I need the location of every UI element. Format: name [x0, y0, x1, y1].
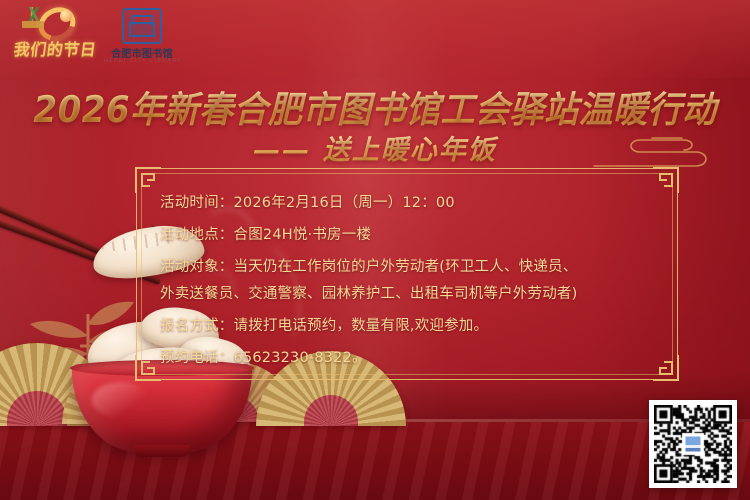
info-line-audience-1: 活动对象：当天仍在工作岗位的户外劳动者(环卫工人、快递员、: [160, 254, 660, 281]
sun-dot-icon: [60, 10, 72, 22]
qr-matrix: [654, 405, 732, 483]
info-text-block: 活动时间：2026年2月16日（周一）12：00 活动地点：合图24H悦·书房一…: [160, 190, 660, 372]
info-line-audience-2: 外卖送餐员、交通警察、园林养护工、出租车司机等户外劳动者): [160, 281, 660, 308]
hefei-city-library-logo: 合肥市图书馆 HEFEI CITY LIBRARY: [104, 8, 180, 68]
logo-underline: [22, 21, 44, 28]
sprout-icon: [17, 7, 51, 21]
info-line-location: 活动地点：合图24H悦·书房一楼: [160, 222, 660, 249]
bowl-highlight: [92, 382, 150, 418]
frame-corner-top-left-icon: [135, 167, 161, 193]
bowl-base: [134, 445, 190, 457]
our-festival-logo: 我们的节日: [14, 6, 92, 64]
poster-canvas: 我们的节日 合肥市图书馆 HEFEI CITY LIBRARY 2026年新春合…: [0, 0, 750, 500]
info-line-signup: 报名方式：请拨打电话预约，数量有限,欢迎参加。: [160, 313, 660, 340]
frame-corner-bottom-left-icon: [135, 355, 161, 381]
info-frame: 活动时间：2026年2月16日（周一）12：00 活动地点：合图24H悦·书房一…: [136, 168, 678, 380]
library-building-icon: [122, 8, 162, 44]
info-line-time: 活动时间：2026年2月16日（周一）12：00: [160, 190, 660, 217]
qr-code[interactable]: [649, 400, 737, 488]
our-festival-label: 我们的节日: [12, 36, 93, 62]
qr-center-logo-icon: [685, 436, 702, 453]
info-line-phone: 预约电话：65623230-8322。: [160, 345, 660, 372]
library-name-en: HEFEI CITY LIBRARY: [104, 58, 180, 64]
logo-row: 我们的节日 合肥市图书馆 HEFEI CITY LIBRARY: [14, 6, 174, 64]
poster-title: 2026年新春合肥市图书馆工会驿站温暖行动: [0, 81, 750, 133]
